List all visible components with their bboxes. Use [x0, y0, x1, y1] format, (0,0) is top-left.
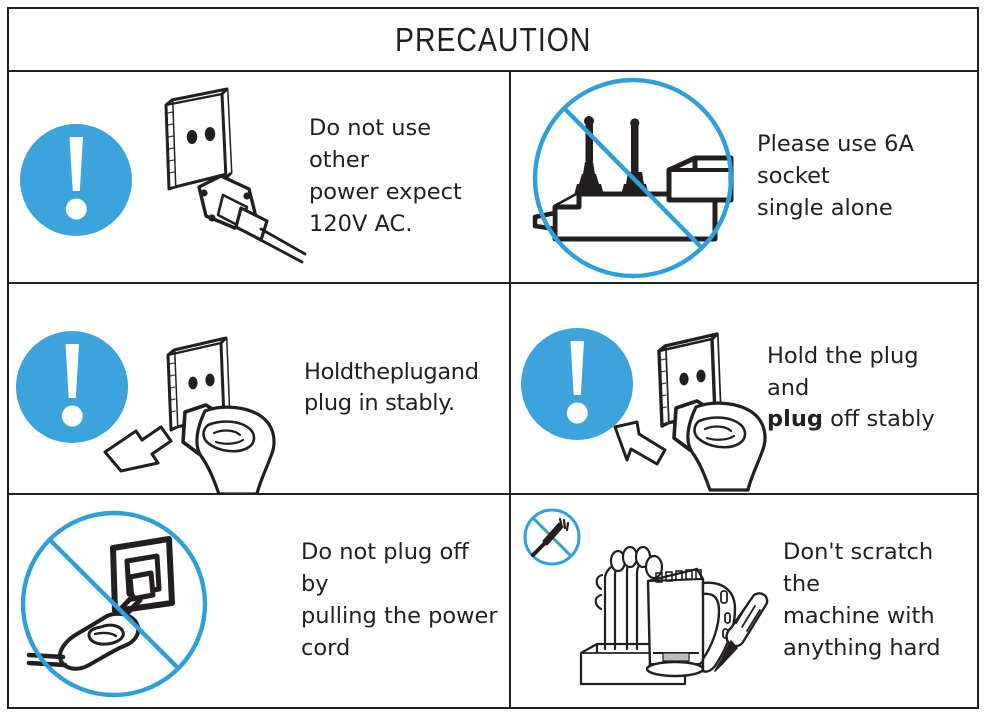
precaution-cell-no-other-power: Do not use other power expect 120V AC.	[9, 72, 511, 284]
precaution-cell-use-6a-socket: Please use 6A socket single alone	[511, 72, 977, 284]
blue-exclamation-circle-icon	[521, 328, 633, 440]
hand-inserting-plug-illustration	[9, 284, 304, 494]
hand-pulling-cord-illustration	[9, 501, 301, 701]
hand-mixer-and-screwdriver-illustration	[517, 501, 779, 701]
illustration-hand-pulling-cord	[9, 495, 301, 707]
caption-line-1: Hold the plug and	[767, 343, 919, 401]
prohibition-circle-icon	[23, 513, 205, 695]
caption-no-pull-cord: Do not plug off by pulling the power cor…	[301, 537, 509, 665]
illustration-wall-socket-and-plug	[9, 72, 309, 282]
prohibition-fork-icon	[525, 510, 579, 564]
page-title: PRECAUTION	[395, 21, 591, 59]
precaution-grid: Do not use other power expect 120V AC.	[9, 72, 977, 707]
illustration-hand-removing-plug	[517, 284, 767, 494]
precaution-cell-no-scratch: Don't scratch the machine with anything …	[511, 495, 977, 707]
precaution-cell-no-pull-cord: Do not plug off by pulling the power cor…	[9, 495, 511, 707]
power-strip-multiple-plugs-illustration	[519, 74, 751, 279]
caption-plug-in-stably: Holdtheplugand plug in stably.	[304, 357, 509, 421]
precaution-cell-plug-off-stably: Hold the plug and plug off stably	[511, 284, 977, 496]
caption-no-scratch: Don't scratch the machine with anything …	[779, 537, 977, 665]
precaution-table: PRECAUTION	[7, 7, 979, 709]
caption-plug-off-stably: Hold the plug and plug off stably	[767, 341, 977, 437]
caption-no-other-power: Do not use other power expect 120V AC.	[309, 113, 509, 241]
illustration-hand-inserting-plug	[9, 284, 304, 494]
caption-line-2-rest: off stably	[823, 406, 935, 432]
table-header: PRECAUTION	[9, 9, 977, 72]
caption-emphasis-plug: plug	[767, 406, 823, 432]
precaution-page: PRECAUTION	[0, 0, 986, 717]
blue-exclamation-circle-icon	[16, 331, 128, 443]
hand-removing-plug-illustration	[517, 284, 767, 494]
illustration-power-strip	[519, 72, 751, 282]
precaution-cell-plug-in-stably: Holdtheplugand plug in stably.	[9, 284, 511, 496]
caption-use-6a-socket: Please use 6A socket single alone	[751, 129, 977, 225]
wall-socket-and-plug-illustration	[9, 77, 309, 277]
illustration-hand-mixer-and-screwdriver	[517, 495, 779, 707]
blue-exclamation-circle-icon	[20, 124, 132, 236]
